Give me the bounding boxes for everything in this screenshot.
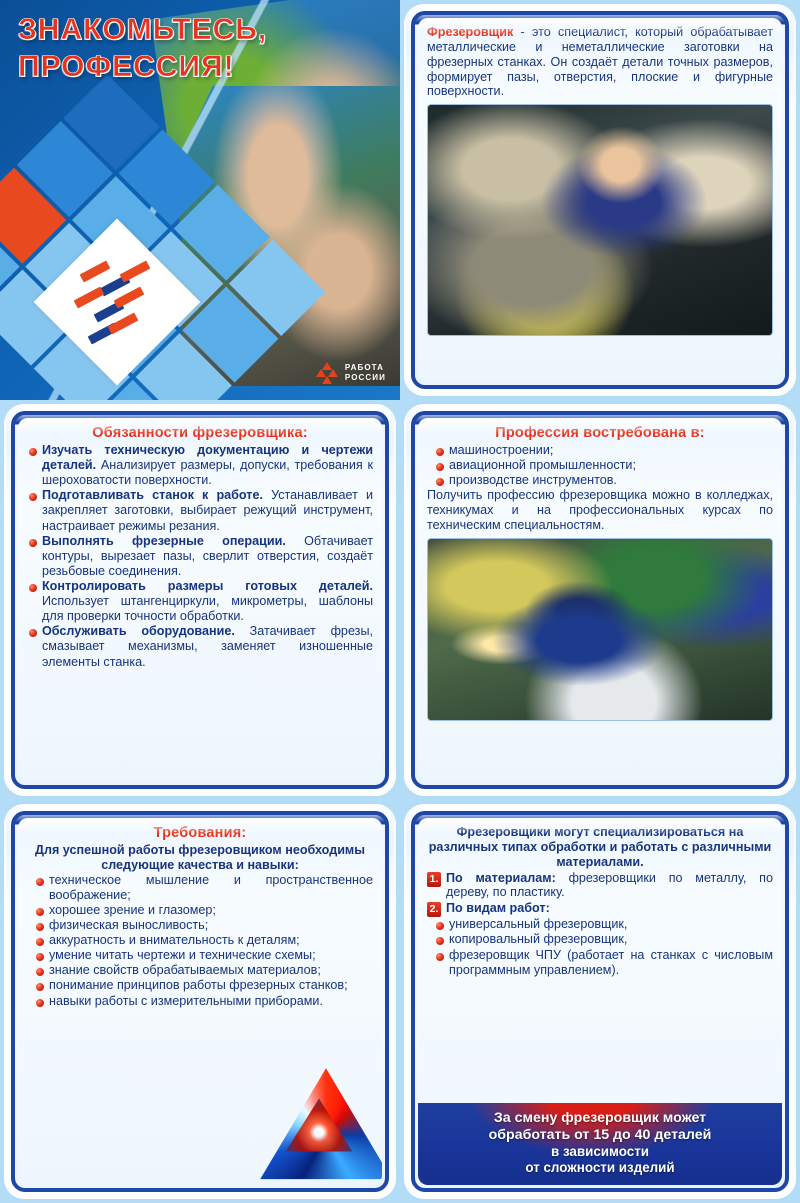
hero-panel: ЗНАКОМЬТЕСЬ, ПРОФЕССИЯ! РАБОТА РОССИИ [0, 0, 400, 400]
rabota-rossii-line1: РАБОТА [345, 363, 386, 373]
rabota-rossii-mark-icon [316, 362, 338, 384]
footer-line-1: За смену фрезеровщик может [426, 1110, 774, 1127]
requirements-list-item: физическая выносливость; [27, 918, 373, 933]
brand-chevron-marks [78, 263, 156, 341]
requirements-card: Требования: Для успешной работы фрезеров… [6, 806, 394, 1197]
requirements-list-item: навыки работы с измерительными приборами… [27, 994, 373, 1009]
demand-card-inner: Профессия востребована в: машиностроении… [418, 418, 782, 782]
duties-list-item: Контролировать размеры готовых деталей. … [27, 579, 373, 624]
hero-background: ЗНАКОМЬТЕСЬ, ПРОФЕССИЯ! РАБОТА РОССИИ [0, 0, 400, 400]
specialization-group-1-text: По материалам: фрезеровщики по металлу, … [446, 871, 773, 901]
footer-line-2: обработать от 15 до 40 деталей [426, 1127, 774, 1144]
intro-panel: Фрезеровщик - это специалист, который об… [400, 0, 800, 400]
duties-list-item: Выполнять фрезерные операции. Обтачивает… [27, 534, 373, 579]
duties-item-bold: Контролировать размеры готовых деталей. [42, 579, 373, 593]
specializations-card-border: Фрезеровщики могут специализироваться на… [411, 811, 789, 1192]
requirements-subheader: Для успешной работы фрезеровщиком необхо… [27, 843, 373, 873]
requirements-list-item: техническое мышление и пространственное … [27, 873, 373, 903]
demand-header: Профессия востребована в: [427, 425, 773, 441]
demand-card: Профессия востребована в: машиностроении… [406, 406, 794, 794]
poster-title-line2: ПРОФЕССИЯ! [18, 51, 267, 83]
demand-photo-workshop [427, 538, 773, 721]
specialization-group-1: 1. По материалам: фрезеровщики по металл… [427, 871, 773, 901]
requirements-panel: Требования: Для успешной работы фрезеров… [0, 800, 400, 1203]
duties-card: Обязанности фрезеровщика: Изучать технич… [6, 406, 394, 794]
requirements-card-border: Требования: Для успешной работы фрезеров… [11, 811, 389, 1192]
intro-card: Фрезеровщик - это специалист, который об… [406, 6, 794, 394]
requirements-list: техническое мышление и пространственное … [27, 873, 373, 1009]
demand-list-item: авиационной промышленности; [427, 458, 773, 473]
specialization-number-2: 2. [427, 902, 441, 917]
specialization-work-type-item: фрезеровщик ЧПУ (работает на станках с ч… [427, 948, 773, 978]
poster-title-line1: ЗНАКОМЬТЕСЬ, [18, 14, 267, 46]
duties-list-item: Изучать техническую документацию и черте… [27, 443, 373, 488]
specializations-intro: Фрезеровщики могут специализироваться на… [427, 825, 773, 870]
specializations-card-inner: Фрезеровщики могут специализироваться на… [418, 818, 782, 1185]
duties-item-bold: Выполнять фрезерные операции. [42, 534, 286, 548]
requirements-header: Требования: [27, 825, 373, 841]
specialization-number-1: 1. [427, 872, 441, 887]
duties-card-border: Обязанности фрезеровщика: Изучать технич… [11, 411, 389, 789]
specialization-work-type-item: универсальный фрезеровщик, [427, 917, 773, 932]
requirements-list-item: хорошее зрение и глазомер; [27, 903, 373, 918]
demand-list-item: производстве инструментов. [427, 473, 773, 488]
specialization-group-2: 2. По видам работ: [427, 901, 773, 917]
duties-list-item: Подготавливать станок к работе. Устанавл… [27, 488, 373, 533]
demand-card-border: Профессия востребована в: машиностроении… [411, 411, 789, 789]
intro-card-border: Фрезеровщик - это специалист, который об… [411, 11, 789, 389]
footer-line-4: от сложности изделий [426, 1160, 774, 1176]
demand-panel: Профессия востребована в: машиностроении… [400, 400, 800, 800]
productivity-footer-banner: За смену фрезеровщик может обработать от… [418, 1103, 782, 1185]
duties-item-bold: Подготавливать станок к работе. [42, 488, 263, 502]
requirements-list-item: аккуратность и внимательность к деталям; [27, 933, 373, 948]
duties-panel: Обязанности фрезеровщика: Изучать технич… [0, 400, 400, 800]
rabota-rossii-line2: РОССИИ [345, 373, 386, 383]
specialization-work-types-list: универсальный фрезеровщик, копировальный… [427, 917, 773, 977]
duties-item-rest: Использует штангенциркули, микрометры, ш… [42, 594, 373, 623]
poster-root: ЗНАКОМЬТЕСЬ, ПРОФЕССИЯ! РАБОТА РОССИИ [0, 0, 800, 1203]
duties-header: Обязанности фрезеровщика: [27, 425, 373, 441]
duties-card-inner: Обязанности фрезеровщика: Изучать технич… [18, 418, 382, 782]
specialization-group-2-text: По видам работ: [446, 901, 550, 916]
demand-list-item: машиностроении; [427, 443, 773, 458]
specializations-panel: Фрезеровщики могут специализироваться на… [400, 800, 800, 1203]
demand-note: Получить профессию фрезеровщика можно в … [427, 488, 773, 533]
requirements-card-inner: Требования: Для успешной работы фрезеров… [18, 818, 382, 1185]
duties-list-item: Обслуживать оборудование. Затачивает фре… [27, 624, 373, 669]
intro-lead-word: Фрезеровщик [427, 25, 513, 39]
poster-title: ЗНАКОМЬТЕСЬ, ПРОФЕССИЯ! [18, 14, 267, 83]
intro-card-inner: Фрезеровщик - это специалист, который об… [418, 18, 782, 382]
requirements-list-item: знание свойств обрабатываемых материалов… [27, 963, 373, 978]
specialization-work-type-item: копировальный фрезеровщик, [427, 932, 773, 947]
specialization-group-1-bold: По материалам: [446, 871, 556, 885]
rabota-rossii-label: РАБОТА РОССИИ [345, 363, 386, 383]
requirements-list-item: умение читать чертежи и технические схем… [27, 948, 373, 963]
footer-line-3: в зависимости [426, 1144, 774, 1160]
intro-paragraph: Фрезеровщик - это специалист, который об… [427, 25, 773, 99]
specializations-card: Фрезеровщики могут специализироваться на… [406, 806, 794, 1197]
specialization-group-2-bold: По видам работ: [446, 901, 550, 915]
intro-photo-milling-operator [427, 104, 773, 336]
duties-item-bold: Обслуживать оборудование. [42, 624, 235, 638]
duties-list: Изучать техническую документацию и черте… [27, 443, 373, 670]
demand-list: машиностроении; авиационной промышленнос… [427, 443, 773, 488]
requirements-list-item: понимание принципов работы фрезерных ста… [27, 978, 373, 993]
rabota-rossii-logo: РАБОТА РОССИИ [316, 362, 386, 384]
